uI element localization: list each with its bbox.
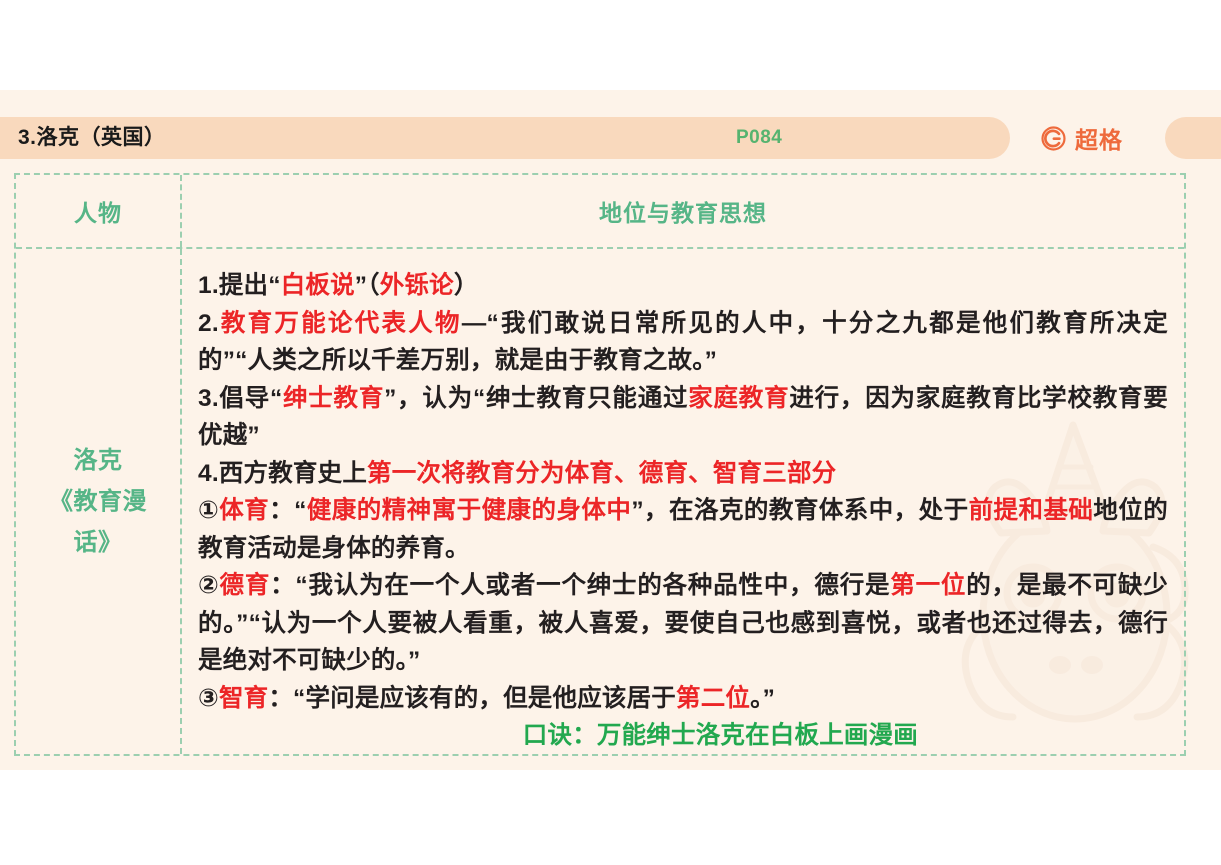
body-text: ①: [198, 497, 219, 524]
highlighted-text: 口诀：万能绅士洛克在白板上画漫画: [523, 722, 918, 749]
body-text: ”，在洛克的教育体系中，处于: [631, 497, 968, 524]
brand-name: 超格: [1075, 121, 1123, 155]
highlighted-text: 健康的精神寓于健康的身体中: [307, 497, 632, 524]
page-number-badge: P084: [736, 117, 782, 159]
highlighted-text: 体育: [219, 497, 269, 524]
brand-logo: 超格: [1040, 117, 1123, 159]
content-line: ②德育：“我认为在一个人或者一个绅士的各种品性中，德行是第一位的，是最不可缺少的…: [198, 567, 1168, 680]
content-line: 2.教育万能论代表人物—“我们敢说日常所见的人中，十分之九都是他们教育所决定的”…: [198, 305, 1168, 380]
body-text: ：“: [269, 497, 306, 524]
content-line: 1.提出“白板说”（外铄论）: [198, 267, 1168, 305]
content-line: ③智育：“学问是应该有的，但是他应该居于第二位。”: [198, 680, 1168, 718]
slide-page: 3.洛克（英国） P084 超格 人物 地位与教育思想 洛克《教育漫话》 1.提…: [0, 0, 1221, 865]
person-name-line: 话》: [74, 529, 123, 556]
highlighted-text: 绅士教育: [282, 385, 384, 412]
highlighted-text: 第二位: [676, 685, 750, 712]
body-text: 3.倡导“: [198, 385, 282, 412]
content-line: 3.倡导“绅士教育”，认为“绅士教育只能通过家庭教育进行，因为家庭教育比学校教育…: [198, 380, 1168, 455]
body-text: ”，认为“绅士教育只能通过: [384, 385, 688, 412]
highlighted-text: 家庭教育: [688, 385, 789, 412]
highlighted-text: 外铄论: [380, 272, 454, 299]
highlighted-text: 智育: [219, 685, 268, 712]
table-cell-content: 1.提出“白板说”（外铄论）2.教育万能论代表人物—“我们敢说日常所见的人中，十…: [182, 249, 1184, 754]
slide-header: 3.洛克（英国） P084 超格: [0, 117, 1221, 159]
body-text: ：“学问是应该有的，但是他应该居于: [268, 685, 676, 712]
highlighted-text: 第一次将教育分为体育、德育、智育三部分: [367, 460, 836, 487]
body-text: ”（: [355, 272, 380, 299]
table-header-row: 人物 地位与教育思想: [16, 175, 1184, 249]
table-header-cell-thought: 地位与教育思想: [182, 175, 1184, 247]
body-text: 4.西方教育史上: [198, 460, 367, 487]
person-name-line: 洛克: [74, 447, 123, 474]
table-row: 洛克《教育漫话》 1.提出“白板说”（外铄论）2.教育万能论代表人物—“我们敢说…: [16, 249, 1184, 754]
content-line: 口诀：万能绅士洛克在白板上画漫画: [198, 717, 1168, 755]
body-text: ②: [198, 572, 220, 599]
page-title: 3.洛克（英国）: [18, 117, 166, 159]
table-header-cell-person: 人物: [16, 175, 182, 247]
highlighted-text: 第一位: [890, 572, 966, 599]
highlighted-text: 白板说: [281, 272, 355, 299]
column-header-label: 人物: [74, 194, 122, 228]
table-cell-person: 洛克《教育漫话》: [16, 249, 182, 754]
highlighted-text: 德育: [220, 572, 271, 599]
body-text: 2.: [198, 310, 219, 337]
highlighted-text: 教育万能论代表人物: [219, 310, 462, 337]
body-text: ）: [454, 272, 479, 299]
person-name-line: 《教育漫: [49, 488, 147, 515]
header-pill-right: [1165, 117, 1221, 159]
body-text: ：“我认为在一个人或者一个绅士的各种品性中，德行是: [270, 572, 890, 599]
column-header-label: 地位与教育思想: [599, 194, 767, 228]
content-table: 人物 地位与教育思想 洛克《教育漫话》 1.提出“白板说”（外铄论）2.教育万能…: [14, 173, 1186, 756]
body-text: 。”: [750, 685, 775, 712]
content-line: 4.西方教育史上第一次将教育分为体育、德育、智育三部分: [198, 455, 1168, 493]
g-circle-logo-icon: [1040, 125, 1067, 152]
person-name: 洛克《教育漫话》: [49, 440, 147, 563]
content-line: ①体育：“健康的精神寓于健康的身体中”，在洛克的教育体系中，处于前提和基础地位的…: [198, 492, 1168, 567]
body-text: ③: [198, 685, 219, 712]
highlighted-text: 前提和基础: [969, 497, 1094, 524]
body-text: 1.提出“: [198, 272, 281, 299]
